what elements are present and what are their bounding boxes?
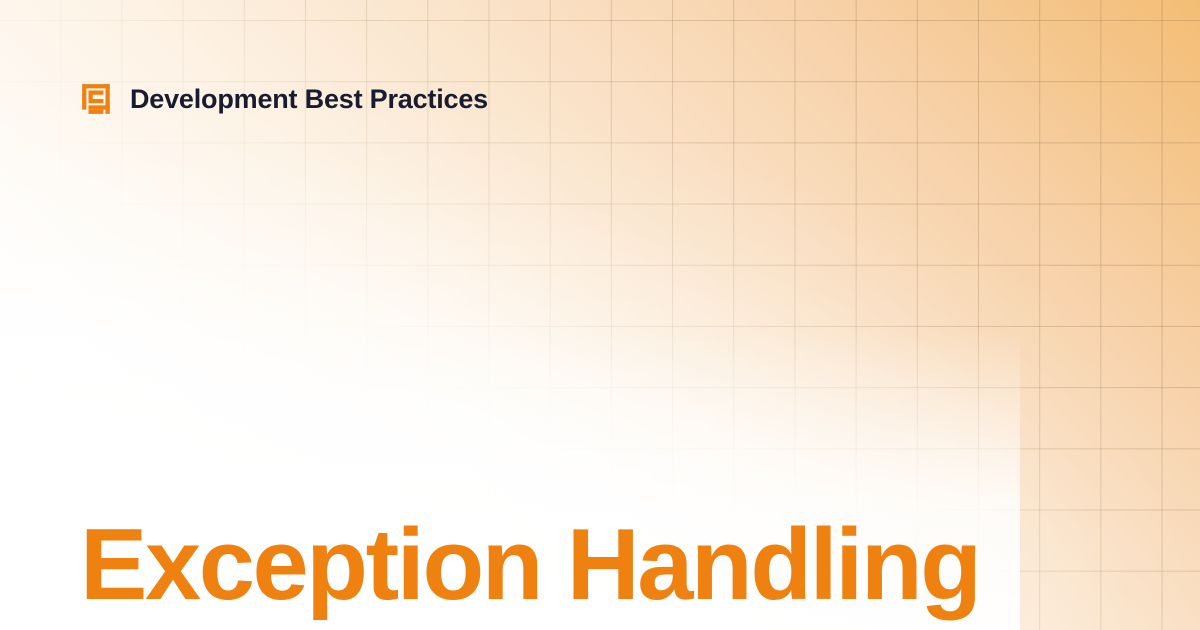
header-title: Development Best Practices [130,86,488,113]
card-header: Development Best Practices [80,82,488,116]
bracket-maze-logo-icon [80,82,114,116]
card-content: Development Best Practices Exception Han… [0,0,1200,630]
page-title: Exception Handling [80,515,980,616]
og-card: Development Best Practices Exception Han… [0,0,1200,630]
